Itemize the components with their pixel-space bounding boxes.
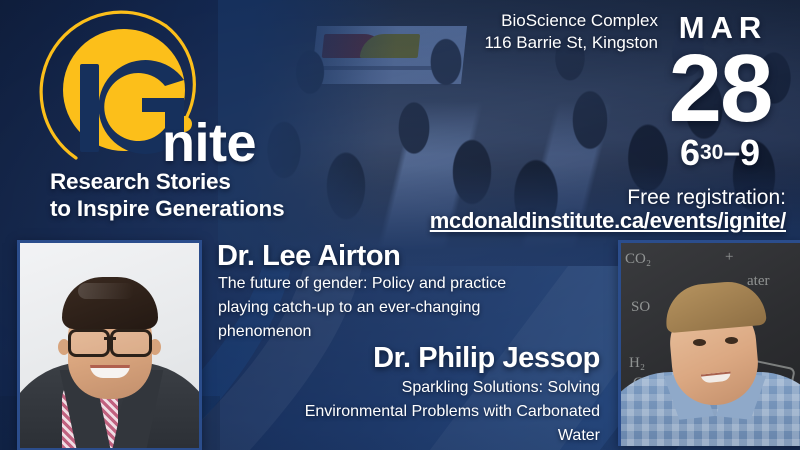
tagline-line-1: Research Stories xyxy=(50,168,310,195)
time-end: 9 xyxy=(740,132,760,173)
registration-url-link[interactable]: mcdonaldinstitute.ca/events/ignite/ xyxy=(430,208,786,234)
time-hour: 6 xyxy=(680,132,700,173)
venue-line-2: 116 Barrie St, Kingston xyxy=(358,32,658,54)
venue-address: BioScience Complex 116 Barrie St, Kingst… xyxy=(358,10,658,55)
speaker-2-name: Dr. Philip Jessop xyxy=(300,342,600,375)
registration-label: Free registration: xyxy=(627,186,786,210)
speaker-2-talk-title: Sparkling Solutions: Solving Environment… xyxy=(300,376,600,448)
time-minutes: 30 xyxy=(700,141,723,164)
speaker-1-name: Dr. Lee Airton xyxy=(217,240,400,273)
speaker-1-talk-title: The future of gender: Policy and practic… xyxy=(218,272,508,344)
poster-tagline: Research Stories to Inspire Generations xyxy=(50,168,310,223)
ignite-logo: nite xyxy=(24,12,274,172)
venue-line-1: BioScience Complex xyxy=(358,10,658,32)
portrait-lee-airton xyxy=(17,240,202,450)
logo-wordmark-nite: nite xyxy=(162,112,256,174)
portrait-philip-jessop: CO₂ + ater SO H₂ CO N xyxy=(618,240,800,446)
time-dash: – xyxy=(723,136,740,169)
event-date-block: MAR 28 630–9 xyxy=(654,12,786,171)
tagline-line-2: to Inspire Generations xyxy=(50,195,310,222)
event-poster: nite Research Stories to Inspire Generat… xyxy=(0,0,800,450)
event-day: 28 xyxy=(654,45,786,133)
